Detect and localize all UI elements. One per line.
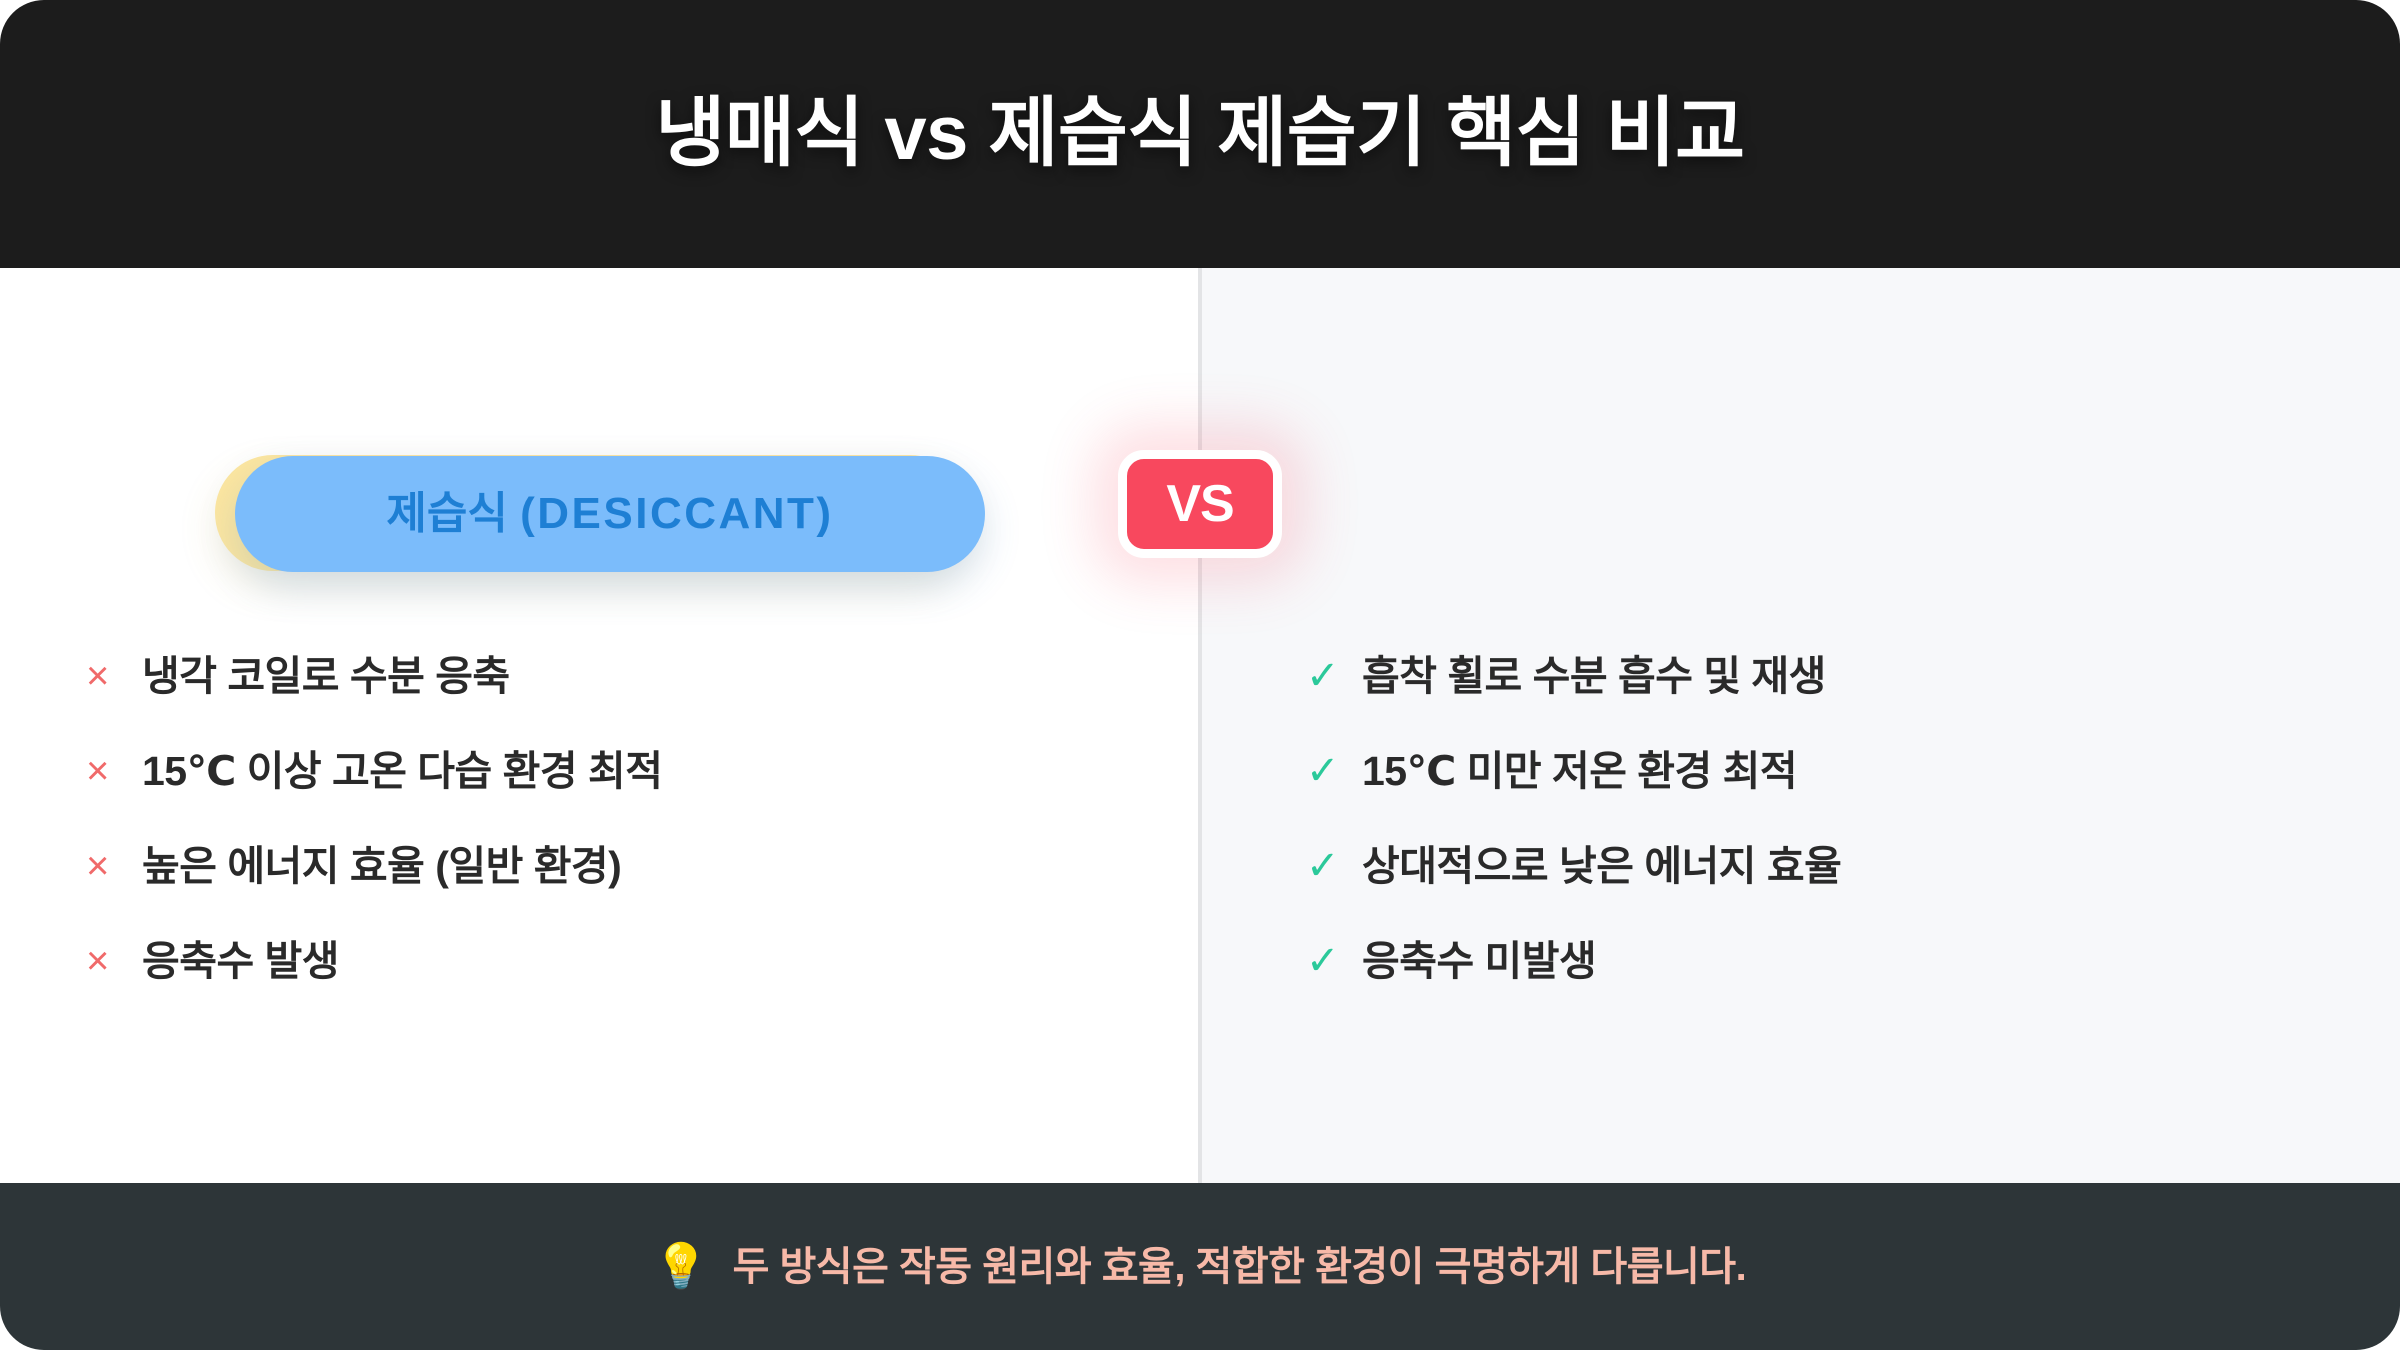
cross-icon: ×: [86, 745, 142, 797]
list-item-label: 15℃ 이상 고온 다습 환경 최적: [142, 745, 662, 797]
check-icon: ✓: [1306, 745, 1362, 797]
vs-badge: VS: [1118, 450, 1282, 558]
vs-badge-label: VS: [1166, 478, 1233, 530]
cross-icon: ×: [86, 935, 142, 987]
list-item: ✓ 15℃ 미만 저온 환경 최적: [1306, 745, 2306, 797]
list-item-label: 응축수 미발생: [1362, 935, 1596, 987]
list-item-label: 높은 에너지 효율 (일반 환경): [142, 840, 621, 892]
right-feature-list: ✓ 흡착 휠로 수분 흡수 및 재생 ✓ 15℃ 미만 저온 환경 최적 ✓ 상…: [1306, 650, 2306, 1030]
list-item: ✓ 응축수 미발생: [1306, 935, 2306, 987]
list-item: ✓ 흡착 휠로 수분 흡수 및 재생: [1306, 650, 2306, 702]
footer-bar: 💡 두 방식은 작동 원리와 효율, 적합한 환경이 극명하게 다릅니다.: [0, 1183, 2400, 1350]
check-icon: ✓: [1306, 650, 1362, 702]
list-item-label: 흡착 휠로 수분 흡수 및 재생: [1362, 650, 1826, 702]
list-item-label: 냉각 코일로 수분 응축: [142, 650, 510, 702]
list-item: × 응축수 발생: [86, 935, 1086, 987]
page-title: 냉매식 vs 제습식 제습기 핵심 비교: [655, 92, 1744, 176]
header-bar: 냉매식 vs 제습식 제습기 핵심 비교: [0, 0, 2400, 268]
lightbulb-icon: 💡: [654, 1245, 709, 1289]
list-item: × 높은 에너지 효율 (일반 환경): [86, 840, 1086, 892]
right-badge-korean: 제습식: [386, 489, 520, 538]
check-icon: ✓: [1306, 935, 1362, 987]
cross-icon: ×: [86, 650, 142, 702]
left-feature-list: × 냉각 코일로 수분 응축 × 15℃ 이상 고온 다습 환경 최적 × 높은…: [86, 650, 1086, 1030]
list-item-label: 응축수 발생: [142, 935, 339, 987]
comparison-body: 냉매식 (REFRIGERANT) 제습식 (DESICCANT) VS × 냉…: [0, 268, 2400, 1183]
right-badge-latin: (DESICCANT): [520, 489, 833, 538]
list-item: × 15℃ 이상 고온 다습 환경 최적: [86, 745, 1086, 797]
right-column-badge: 제습식 (DESICCANT): [235, 456, 985, 572]
panel-divider: [1198, 268, 1202, 1183]
list-item-label: 상대적으로 낮은 에너지 효율: [1362, 840, 1841, 892]
footer-note: 두 방식은 작동 원리와 효율, 적합한 환경이 극명하게 다릅니다.: [733, 1243, 1747, 1291]
check-icon: ✓: [1306, 840, 1362, 892]
list-item-label: 15℃ 미만 저온 환경 최적: [1362, 745, 1797, 797]
cross-icon: ×: [86, 840, 142, 892]
right-column-badge-label: 제습식 (DESICCANT): [386, 492, 833, 536]
comparison-infographic-card: 냉매식 vs 제습식 제습기 핵심 비교 냉매식 (REFRIGERANT) 제…: [0, 0, 2400, 1350]
list-item: ✓ 상대적으로 낮은 에너지 효율: [1306, 840, 2306, 892]
list-item: × 냉각 코일로 수분 응축: [86, 650, 1086, 702]
